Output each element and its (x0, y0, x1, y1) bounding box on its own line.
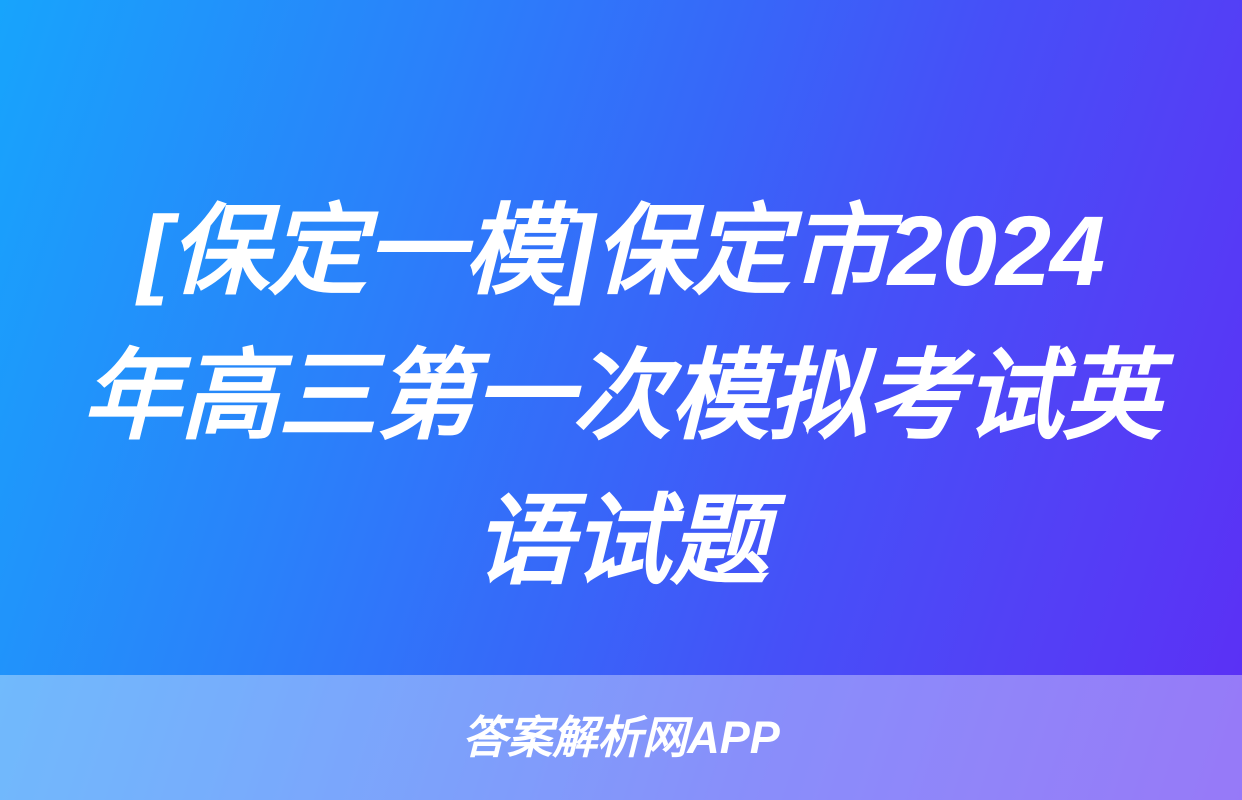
exam-title-banner: [保定一模]保定市2024 年高三第一次模拟考试英 语试题 答案解析网APP (0, 0, 1242, 800)
page-title: [保定一模]保定市2024 年高三第一次模拟考试英 语试题 (0, 178, 1242, 613)
title-line-2: 年高三第一次模拟考试英 (26, 323, 1216, 468)
title-line-3: 语试题 (26, 468, 1216, 613)
app-watermark-label: 答案解析网APP (462, 715, 780, 760)
title-line-1: [保定一模]保定市2024 (26, 178, 1216, 323)
watermark-band: 答案解析网APP (0, 675, 1242, 800)
